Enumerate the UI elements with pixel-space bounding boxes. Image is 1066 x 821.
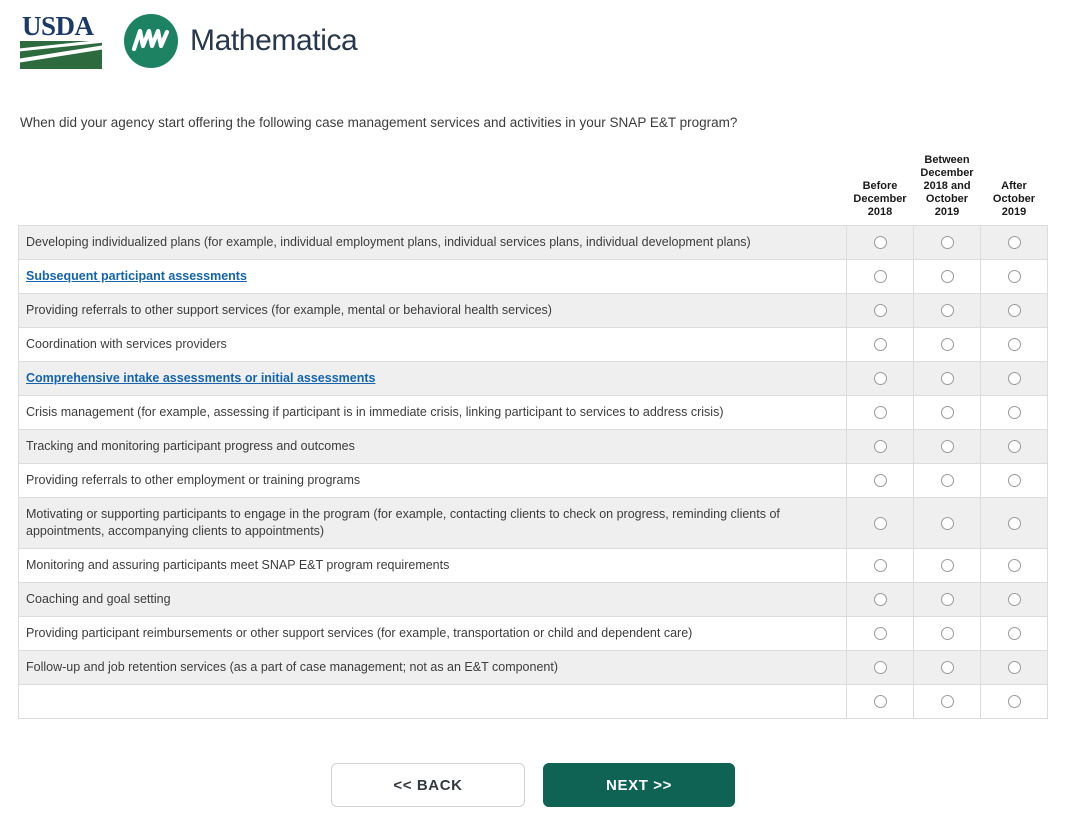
matrix-header-col-0: BeforeDecember2018: [847, 154, 914, 226]
radio-between_dec_2018_oct_2019[interactable]: [941, 372, 954, 385]
radio-cell-between_dec_2018_oct_2019[interactable]: [914, 549, 981, 583]
matrix-header-line: 2018 and: [923, 180, 970, 192]
table-row: Providing referrals to other employment …: [19, 464, 1048, 498]
radio-after_oct_2019[interactable]: [1008, 304, 1021, 317]
radio-cell-before_dec_2018[interactable]: [847, 396, 914, 430]
row-label-text: Monitoring and assuring participants mee…: [26, 558, 449, 572]
radio-cell-before_dec_2018[interactable]: [847, 226, 914, 260]
radio-after_oct_2019[interactable]: [1008, 661, 1021, 674]
radio-cell-after_oct_2019[interactable]: [981, 226, 1048, 260]
radio-before_dec_2018[interactable]: [874, 593, 887, 606]
matrix-header: BeforeDecember2018 BetweenDecember2018 a…: [19, 154, 1048, 226]
radio-between_dec_2018_oct_2019[interactable]: [941, 474, 954, 487]
radio-before_dec_2018[interactable]: [874, 517, 887, 530]
mathematica-logo: Mathematica: [124, 14, 357, 68]
radio-cell-before_dec_2018[interactable]: [847, 685, 914, 719]
table-row: Comprehensive intake assessments or init…: [19, 362, 1048, 396]
radio-cell-after_oct_2019[interactable]: [981, 362, 1048, 396]
case-management-matrix-table: BeforeDecember2018 BetweenDecember2018 a…: [18, 154, 1048, 719]
matrix-header-line: Before: [863, 180, 898, 192]
radio-between_dec_2018_oct_2019[interactable]: [941, 593, 954, 606]
matrix-body: Developing individualized plans (for exa…: [19, 226, 1048, 719]
table-row: Coordination with services providers: [19, 328, 1048, 362]
matrix-header-line: Between: [924, 154, 969, 166]
table-row: Crisis management (for example, assessin…: [19, 396, 1048, 430]
radio-cell-between_dec_2018_oct_2019[interactable]: [914, 396, 981, 430]
radio-cell-after_oct_2019[interactable]: [981, 430, 1048, 464]
radio-cell-before_dec_2018[interactable]: [847, 583, 914, 617]
matrix-header-col-2: AfterOctober2019: [981, 154, 1048, 226]
row-label-text: Providing referrals to other employment …: [26, 473, 360, 487]
row-label-link[interactable]: Comprehensive intake assessments or init…: [26, 371, 375, 385]
radio-after_oct_2019[interactable]: [1008, 440, 1021, 453]
radio-between_dec_2018_oct_2019[interactable]: [941, 517, 954, 530]
radio-between_dec_2018_oct_2019[interactable]: [941, 236, 954, 249]
row-label-link[interactable]: Subsequent participant assessments: [26, 269, 247, 283]
radio-between_dec_2018_oct_2019[interactable]: [941, 338, 954, 351]
row-label-cell: Follow-up and job retention services (as…: [19, 651, 847, 685]
row-label-cell: Monitoring and assuring participants mee…: [19, 549, 847, 583]
navigation-buttons: << BACK NEXT >>: [0, 763, 1066, 807]
radio-before_dec_2018[interactable]: [874, 270, 887, 283]
row-label-cell: Comprehensive intake assessments or init…: [19, 362, 847, 396]
row-label-cell: Coordination with services providers: [19, 328, 847, 362]
radio-cell-between_dec_2018_oct_2019[interactable]: [914, 328, 981, 362]
row-label-cell: [19, 685, 847, 719]
matrix-header-line: December: [853, 193, 906, 205]
row-label-cell: Providing participant reimbursements or …: [19, 617, 847, 651]
radio-cell-after_oct_2019[interactable]: [981, 685, 1048, 719]
radio-before_dec_2018[interactable]: [874, 661, 887, 674]
radio-cell-between_dec_2018_oct_2019[interactable]: [914, 260, 981, 294]
matrix-header-line: December: [920, 167, 973, 179]
row-label-cell: Providing referrals to other employment …: [19, 464, 847, 498]
radio-before_dec_2018[interactable]: [874, 474, 887, 487]
radio-cell-between_dec_2018_oct_2019[interactable]: [914, 617, 981, 651]
row-label-text: Coaching and goal setting: [26, 592, 171, 606]
radio-after_oct_2019[interactable]: [1008, 236, 1021, 249]
table-row: Motivating or supporting participants to…: [19, 498, 1048, 549]
radio-cell-before_dec_2018[interactable]: [847, 464, 914, 498]
radio-before_dec_2018[interactable]: [874, 440, 887, 453]
mathematica-wordmark: Mathematica: [190, 24, 357, 58]
radio-cell-after_oct_2019[interactable]: [981, 617, 1048, 651]
radio-cell-after_oct_2019[interactable]: [981, 464, 1048, 498]
radio-before_dec_2018[interactable]: [874, 372, 887, 385]
row-label-text: Developing individualized plans (for exa…: [26, 235, 751, 249]
radio-cell-before_dec_2018[interactable]: [847, 294, 914, 328]
radio-between_dec_2018_oct_2019[interactable]: [941, 270, 954, 283]
mathematica-mark-icon: [124, 14, 178, 68]
radio-after_oct_2019[interactable]: [1008, 517, 1021, 530]
row-label-text: Tracking and monitoring participant prog…: [26, 439, 355, 453]
row-label-cell: Subsequent participant assessments: [19, 260, 847, 294]
row-label-text: Crisis management (for example, assessin…: [26, 405, 723, 419]
back-button[interactable]: << BACK: [331, 763, 525, 807]
row-label-text: Providing participant reimbursements or …: [26, 626, 692, 640]
radio-before_dec_2018[interactable]: [874, 338, 887, 351]
radio-cell-before_dec_2018[interactable]: [847, 498, 914, 549]
row-label-text: Providing referrals to other support ser…: [26, 303, 552, 317]
radio-between_dec_2018_oct_2019[interactable]: [941, 406, 954, 419]
radio-cell-before_dec_2018[interactable]: [847, 430, 914, 464]
radio-after_oct_2019[interactable]: [1008, 338, 1021, 351]
radio-after_oct_2019[interactable]: [1008, 627, 1021, 640]
radio-cell-between_dec_2018_oct_2019[interactable]: [914, 362, 981, 396]
radio-cell-before_dec_2018[interactable]: [847, 362, 914, 396]
radio-between_dec_2018_oct_2019[interactable]: [941, 695, 954, 708]
radio-cell-after_oct_2019[interactable]: [981, 328, 1048, 362]
radio-before_dec_2018[interactable]: [874, 304, 887, 317]
matrix-header-line: After: [1001, 180, 1027, 192]
row-label-text: Motivating or supporting participants to…: [26, 507, 780, 538]
radio-after_oct_2019[interactable]: [1008, 372, 1021, 385]
radio-cell-between_dec_2018_oct_2019[interactable]: [914, 226, 981, 260]
radio-before_dec_2018[interactable]: [874, 236, 887, 249]
matrix-header-line: October: [993, 193, 1035, 205]
table-row: Providing participant reimbursements or …: [19, 617, 1048, 651]
radio-cell-after_oct_2019[interactable]: [981, 549, 1048, 583]
radio-cell-before_dec_2018[interactable]: [847, 549, 914, 583]
row-label-cell: Developing individualized plans (for exa…: [19, 226, 847, 260]
radio-cell-before_dec_2018[interactable]: [847, 617, 914, 651]
row-label-cell: Tracking and monitoring participant prog…: [19, 430, 847, 464]
table-row: Subsequent participant assessments: [19, 260, 1048, 294]
radio-cell-after_oct_2019[interactable]: [981, 260, 1048, 294]
matrix-header-line: 2019: [1002, 206, 1026, 218]
radio-after_oct_2019[interactable]: [1008, 270, 1021, 283]
radio-cell-before_dec_2018[interactable]: [847, 328, 914, 362]
radio-cell-after_oct_2019[interactable]: [981, 498, 1048, 549]
table-row: Providing referrals to other support ser…: [19, 294, 1048, 328]
radio-cell-between_dec_2018_oct_2019[interactable]: [914, 651, 981, 685]
radio-cell-between_dec_2018_oct_2019[interactable]: [914, 294, 981, 328]
usda-logo-text: USDA: [20, 13, 102, 39]
radio-cell-before_dec_2018[interactable]: [847, 651, 914, 685]
page-header: USDA Mathematica: [0, 0, 1066, 72]
table-row: [19, 685, 1048, 719]
radio-between_dec_2018_oct_2019[interactable]: [941, 440, 954, 453]
table-row: Coaching and goal setting: [19, 583, 1048, 617]
radio-after_oct_2019[interactable]: [1008, 474, 1021, 487]
matrix-table-wrapper: BeforeDecember2018 BetweenDecember2018 a…: [18, 154, 1047, 719]
radio-cell-between_dec_2018_oct_2019[interactable]: [914, 583, 981, 617]
matrix-header-row: BeforeDecember2018 BetweenDecember2018 a…: [19, 154, 1048, 226]
row-label-cell: Coaching and goal setting: [19, 583, 847, 617]
radio-cell-between_dec_2018_oct_2019[interactable]: [914, 430, 981, 464]
radio-after_oct_2019[interactable]: [1008, 593, 1021, 606]
radio-after_oct_2019[interactable]: [1008, 695, 1021, 708]
radio-between_dec_2018_oct_2019[interactable]: [941, 627, 954, 640]
question-text: When did your agency start offering the …: [20, 114, 1066, 132]
radio-before_dec_2018[interactable]: [874, 406, 887, 419]
row-label-cell: Crisis management (for example, assessin…: [19, 396, 847, 430]
table-row: Tracking and monitoring participant prog…: [19, 430, 1048, 464]
radio-cell-after_oct_2019[interactable]: [981, 396, 1048, 430]
usda-landscape-graphic: [20, 41, 102, 69]
radio-cell-before_dec_2018[interactable]: [847, 260, 914, 294]
radio-between_dec_2018_oct_2019[interactable]: [941, 559, 954, 572]
radio-cell-after_oct_2019[interactable]: [981, 651, 1048, 685]
table-row: Monitoring and assuring participants mee…: [19, 549, 1048, 583]
table-row: Follow-up and job retention services (as…: [19, 651, 1048, 685]
radio-cell-between_dec_2018_oct_2019[interactable]: [914, 685, 981, 719]
row-label-cell: Motivating or supporting participants to…: [19, 498, 847, 549]
radio-cell-between_dec_2018_oct_2019[interactable]: [914, 464, 981, 498]
radio-after_oct_2019[interactable]: [1008, 559, 1021, 572]
usda-logo: USDA: [20, 13, 102, 69]
matrix-header-line: October: [926, 193, 968, 205]
radio-between_dec_2018_oct_2019[interactable]: [941, 661, 954, 674]
radio-cell-after_oct_2019[interactable]: [981, 294, 1048, 328]
row-label-text: Coordination with services providers: [26, 337, 227, 351]
radio-before_dec_2018[interactable]: [874, 695, 887, 708]
matrix-header-line: 2019: [935, 206, 959, 218]
radio-before_dec_2018[interactable]: [874, 559, 887, 572]
radio-between_dec_2018_oct_2019[interactable]: [941, 304, 954, 317]
radio-cell-after_oct_2019[interactable]: [981, 583, 1048, 617]
radio-cell-between_dec_2018_oct_2019[interactable]: [914, 498, 981, 549]
table-row: Developing individualized plans (for exa…: [19, 226, 1048, 260]
radio-before_dec_2018[interactable]: [874, 627, 887, 640]
matrix-header-line: 2018: [868, 206, 892, 218]
next-button[interactable]: NEXT >>: [543, 763, 735, 807]
row-label-cell: Providing referrals to other support ser…: [19, 294, 847, 328]
row-label-text: Follow-up and job retention services (as…: [26, 660, 558, 674]
radio-after_oct_2019[interactable]: [1008, 406, 1021, 419]
matrix-header-col-1: BetweenDecember2018 andOctober2019: [914, 154, 981, 226]
matrix-header-blank: [19, 154, 847, 226]
